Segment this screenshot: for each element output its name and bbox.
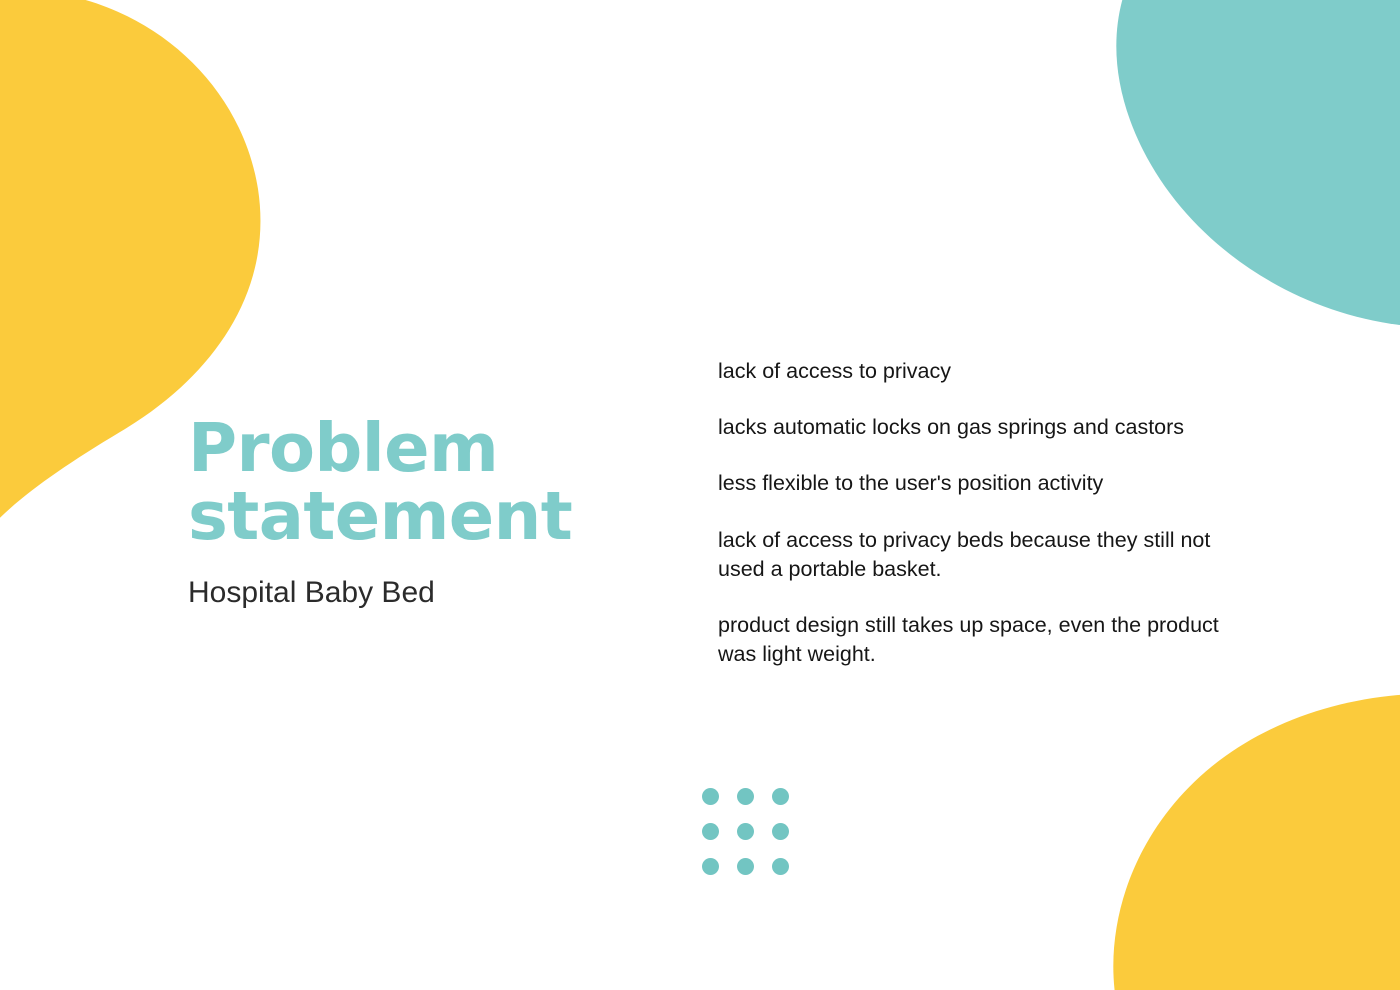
page-subtitle: Hospital Baby Bed [188, 551, 658, 611]
page-title: Problem statement [188, 414, 658, 551]
dot-icon [702, 823, 719, 840]
problem-statement-list: lack of access to privacy lacks automati… [718, 357, 1246, 670]
problem-item: lack of access to privacy [718, 357, 1246, 386]
title-block: Problem statement Hospital Baby Bed [188, 414, 658, 611]
problem-item: less flexible to the user's position act… [718, 469, 1246, 498]
dot-icon [737, 823, 754, 840]
yellow-bottomright-blob [1090, 690, 1400, 990]
dot-icon [737, 788, 754, 805]
dot-grid-decoration [702, 788, 789, 875]
problem-item: product design still takes up space, eve… [718, 611, 1246, 669]
dot-icon [772, 788, 789, 805]
teal-topright-blob [1100, 0, 1400, 325]
problem-item: lacks automatic locks on gas springs and… [718, 413, 1246, 442]
dot-icon [702, 788, 719, 805]
problem-item: lack of access to privacy beds because t… [718, 526, 1246, 584]
slide-canvas: Problem statement Hospital Baby Bed lack… [0, 0, 1400, 990]
dot-icon [772, 823, 789, 840]
dot-icon [772, 858, 789, 875]
dot-icon [702, 858, 719, 875]
dot-icon [737, 858, 754, 875]
